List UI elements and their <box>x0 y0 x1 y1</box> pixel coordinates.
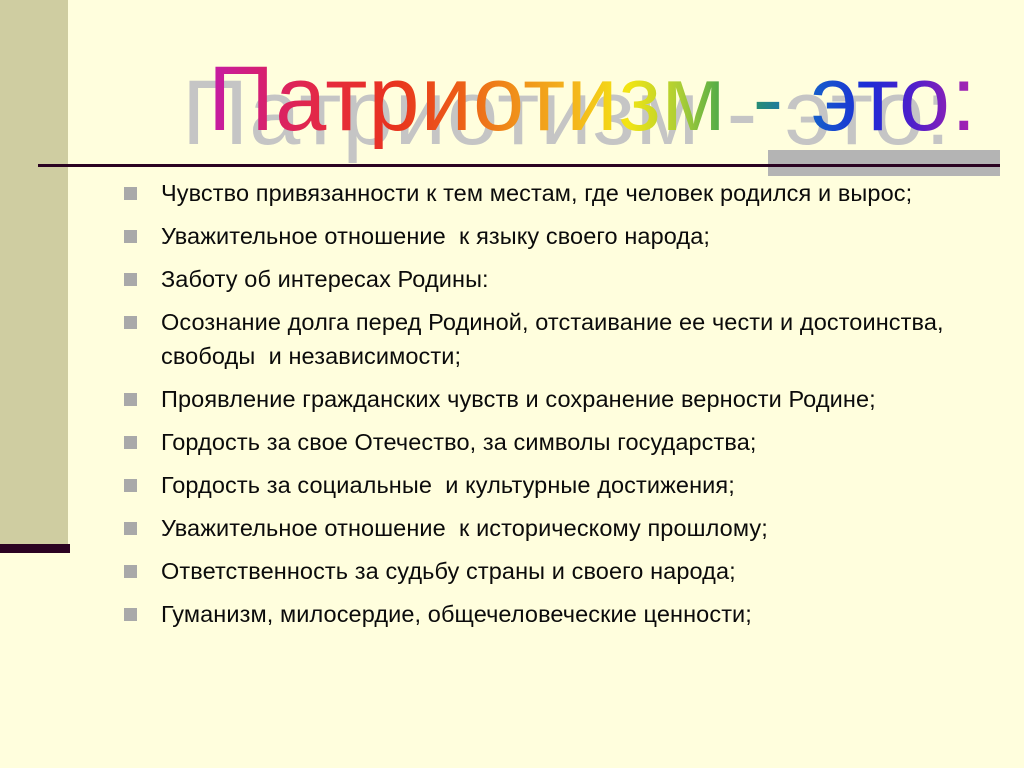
slide-title-area: Патриотизм - это: Патриотизм - это: <box>0 38 1024 163</box>
bullet-item: Гуманизм, милосердие, общечеловеческие ц… <box>124 597 964 631</box>
bullet-item: Чувство привязанности к тем местам, где … <box>124 176 964 210</box>
bullet-text: Уважительное отношение к языку своего на… <box>161 219 964 253</box>
bullet-square-icon <box>124 565 137 578</box>
bullet-square-icon <box>124 230 137 243</box>
bullet-text: Гордость за свое Отечество, за символы г… <box>161 425 964 459</box>
bullet-item: Гордость за свое Отечество, за символы г… <box>124 425 964 459</box>
bullet-square-icon <box>124 273 137 286</box>
bullet-item: Проявление гражданских чувств и сохранен… <box>124 382 964 416</box>
wordart-title: Патриотизм - это: Патриотизм - это: <box>0 38 1024 163</box>
bullet-square-icon <box>124 187 137 200</box>
bullet-item: Ответственность за судьбу страны и своег… <box>124 554 964 588</box>
bullet-square-icon <box>124 316 137 329</box>
bullet-text: Ответственность за судьбу страны и своег… <box>161 554 964 588</box>
svg-text:Патриотизм - это:: Патриотизм - это: <box>208 48 978 150</box>
bullet-text: Гордость за социальные и культурные дост… <box>161 468 964 502</box>
bullet-text: Проявление гражданских чувств и сохранен… <box>161 382 964 416</box>
bullet-text: Чувство привязанности к тем местам, где … <box>161 176 964 210</box>
presentation-slide: Патриотизм - это: Патриотизм - это: Чувс… <box>0 0 1024 768</box>
title-divider-rule <box>38 164 1000 167</box>
bullet-text: Гуманизм, милосердие, общечеловеческие ц… <box>161 597 964 631</box>
bullet-square-icon <box>124 436 137 449</box>
bullet-item: Осознание долга перед Родиной, отстаиван… <box>124 305 964 373</box>
bullet-text: Уважительное отношение к историческому п… <box>161 511 964 545</box>
bullet-item: Заботу об интересах Родины: <box>124 262 964 296</box>
bullet-text: Заботу об интересах Родины: <box>161 262 964 296</box>
title-gray-accent-block <box>768 150 1000 176</box>
bullet-text: Осознание долга перед Родиной, отстаиван… <box>161 305 964 373</box>
bullet-square-icon <box>124 479 137 492</box>
bullet-square-icon <box>124 608 137 621</box>
bullet-item: Гордость за социальные и культурные дост… <box>124 468 964 502</box>
bullet-item: Уважительное отношение к языку своего на… <box>124 219 964 253</box>
bullet-square-icon <box>124 393 137 406</box>
bullet-list: Чувство привязанности к тем местам, где … <box>124 176 964 640</box>
bullet-square-icon <box>124 522 137 535</box>
sidebar-bottom-accent-bar <box>0 544 70 553</box>
bullet-item: Уважительное отношение к историческому п… <box>124 511 964 545</box>
